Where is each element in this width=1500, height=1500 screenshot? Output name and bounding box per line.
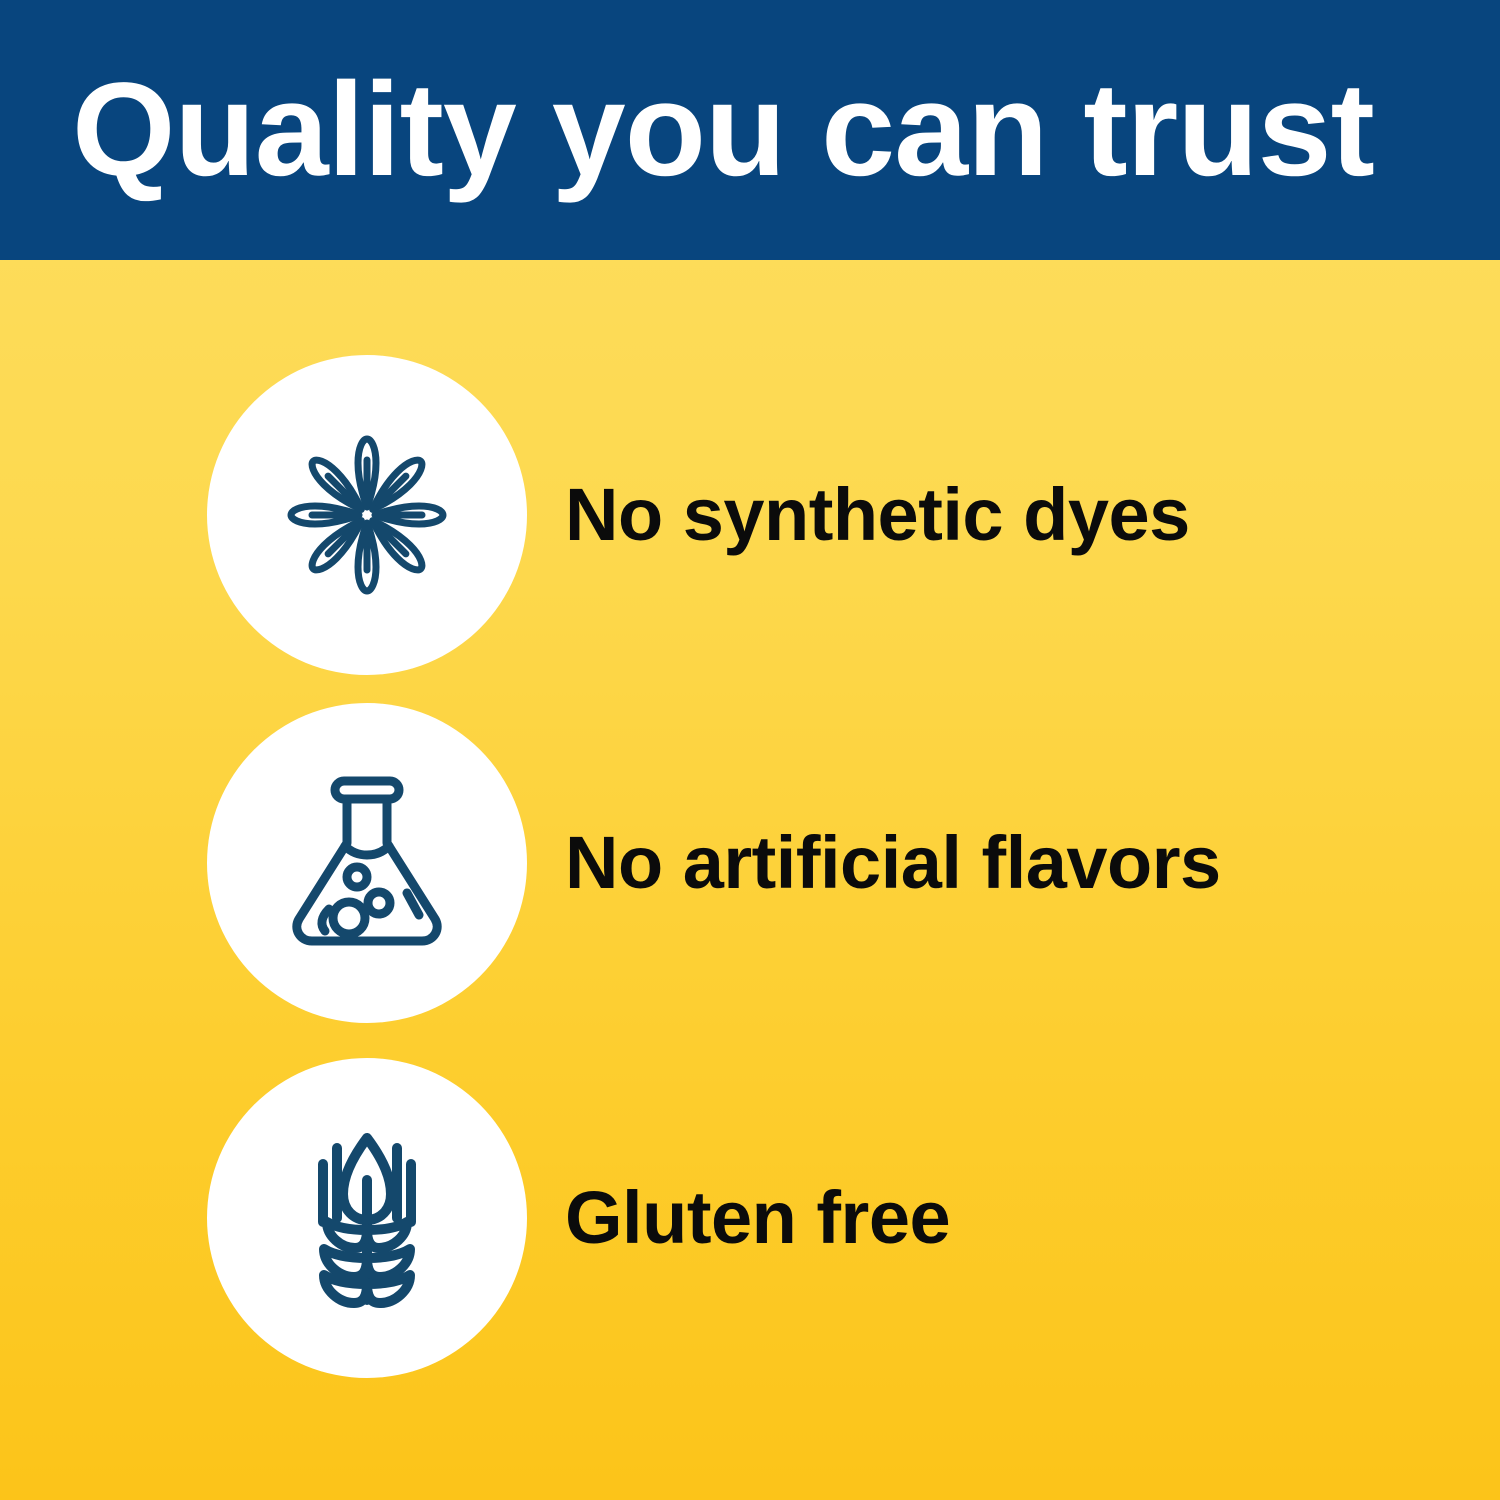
feature-label: No synthetic dyes — [565, 478, 1190, 552]
icon-badge — [207, 703, 527, 1023]
list-item: Gluten free — [0, 1058, 1500, 1378]
feature-label: Gluten free — [565, 1181, 950, 1255]
list-item: No artificial flavors — [0, 703, 1500, 1023]
page-title: Quality you can trust — [0, 64, 1374, 197]
header-banner: Quality you can trust — [0, 0, 1500, 260]
quality-claims-poster: Quality you can trust — [0, 0, 1500, 1500]
icon-badge — [207, 1058, 527, 1378]
feature-label: No artificial flavors — [565, 826, 1221, 900]
icon-badge — [207, 355, 527, 675]
wheat-stalk-icon — [267, 1118, 467, 1318]
flower-petals-icon — [267, 415, 467, 615]
erlenmeyer-flask-icon — [267, 763, 467, 963]
feature-list: No synthetic dyes — [0, 260, 1500, 1500]
list-item: No synthetic dyes — [0, 355, 1500, 675]
